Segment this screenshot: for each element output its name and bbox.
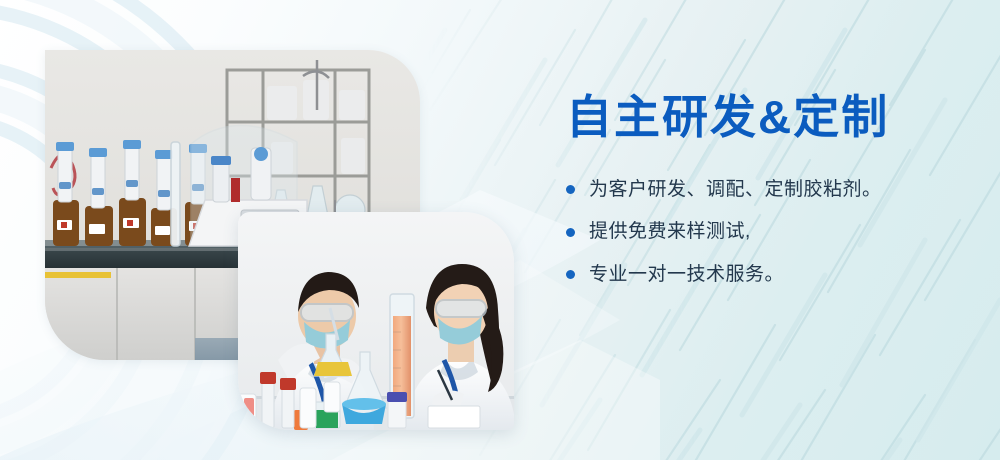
list-item-label: 为客户研发、调配、定制胶粘剂。: [589, 177, 882, 203]
bullet-dot-icon: [566, 228, 575, 237]
bullet-dot-icon: [566, 270, 575, 279]
feature-list: 为客户研发、调配、定制胶粘剂。 提供免费来样测试, 专业一对一技术服务。: [566, 177, 966, 288]
banner-content: 自主研发&定制 为客户研发、调配、定制胶粘剂。 提供免费来样测试, 专业一对一技…: [566, 92, 966, 305]
list-item: 提供免费来样测试,: [566, 219, 966, 245]
page-title: 自主研发&定制: [566, 92, 966, 143]
lab-technicians-photo: [238, 212, 514, 430]
bullet-dot-icon: [566, 185, 575, 194]
list-item: 专业一对一技术服务。: [566, 262, 966, 288]
list-item: 为客户研发、调配、定制胶粘剂。: [566, 177, 966, 203]
list-item-label: 专业一对一技术服务。: [589, 262, 784, 288]
promo-banner: 自主研发&定制 为客户研发、调配、定制胶粘剂。 提供免费来样测试, 专业一对一技…: [0, 0, 1000, 460]
list-item-label: 提供免费来样测试,: [589, 219, 751, 245]
